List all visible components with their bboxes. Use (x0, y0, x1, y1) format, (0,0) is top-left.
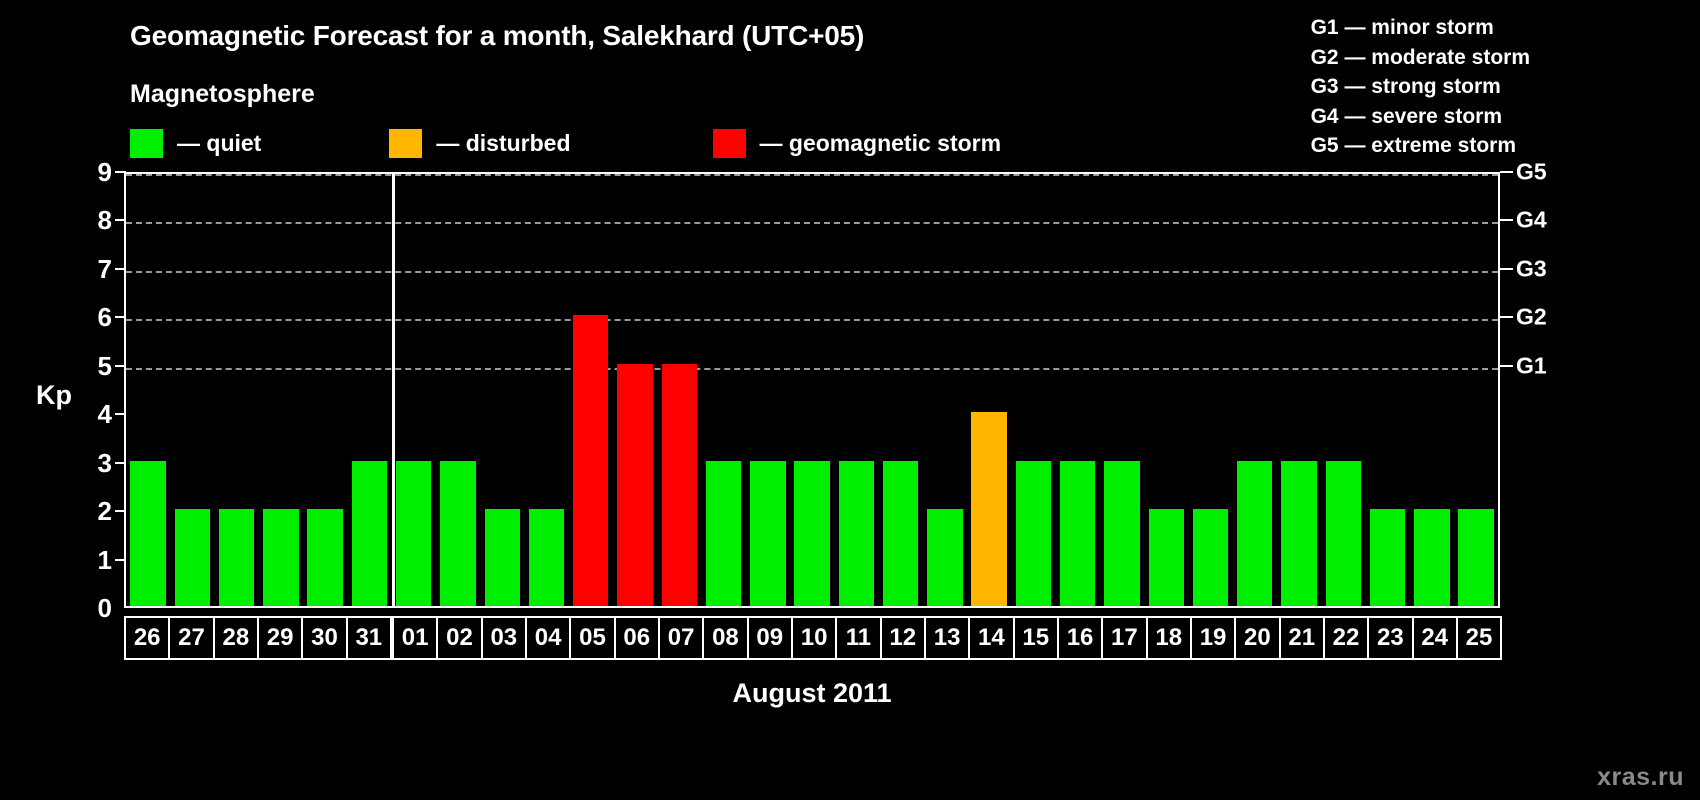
bar-day-21 (1281, 461, 1316, 606)
g-tick-label-G2: G2 (1516, 306, 1547, 329)
bar-day-26 (130, 461, 165, 606)
bar-cell (1410, 174, 1454, 606)
bar-day-11 (839, 461, 874, 606)
x-axis-day-21[interactable]: 21 (1279, 616, 1325, 660)
g-scale-key-line-2: G2 — moderate storm (1311, 43, 1530, 73)
g-scale-key-line-3: G3 — strong storm (1311, 72, 1530, 102)
g-tick-G5 (1500, 171, 1513, 173)
plot-area (124, 172, 1500, 608)
g-tick-label-G4: G4 (1516, 209, 1547, 232)
bar-cell (1454, 174, 1498, 606)
bar-cell (923, 174, 967, 606)
g-tick-label-G1: G1 (1516, 354, 1547, 377)
bar-cell (967, 174, 1011, 606)
bar-day-05 (573, 315, 608, 606)
legend-item-2: — geomagnetic storm (713, 128, 1002, 158)
x-axis-day-25[interactable]: 25 (1456, 616, 1502, 660)
y-tick-label-3: 3 (98, 450, 112, 476)
page-title: Geomagnetic Forecast for a month, Salekh… (130, 20, 864, 52)
x-axis-day-17[interactable]: 17 (1101, 616, 1147, 660)
bar-cell (1365, 174, 1409, 606)
x-axis-day-26[interactable]: 26 (124, 616, 170, 660)
g-tick-G3 (1500, 268, 1513, 270)
bar-day-15 (1016, 461, 1051, 606)
bar-day-20 (1237, 461, 1272, 606)
g-tick-G4 (1500, 219, 1513, 221)
red-square-icon (713, 129, 746, 158)
y-tick-label-9: 9 (98, 159, 112, 185)
x-axis-day-16[interactable]: 16 (1057, 616, 1103, 660)
x-axis-day-20[interactable]: 20 (1234, 616, 1280, 660)
g-axis-ticks (1500, 172, 1514, 608)
bar-cell (1188, 174, 1232, 606)
bar-cell (170, 174, 214, 606)
y-tick-label-8: 8 (98, 207, 112, 233)
bar-cell (303, 174, 347, 606)
x-axis-day-27[interactable]: 27 (168, 616, 214, 660)
bar-day-17 (1104, 461, 1139, 606)
g-tick-label-G3: G3 (1516, 257, 1547, 280)
x-axis-day-19[interactable]: 19 (1190, 616, 1236, 660)
bar-cell (436, 174, 480, 606)
bar-day-08 (706, 461, 741, 606)
bar-day-18 (1149, 509, 1184, 606)
g-tick-label-G5: G5 (1516, 161, 1547, 184)
x-axis-day-06[interactable]: 06 (614, 616, 660, 660)
bar-day-31 (352, 461, 387, 606)
x-axis-day-18[interactable]: 18 (1146, 616, 1192, 660)
x-axis-day-30[interactable]: 30 (301, 616, 347, 660)
bar-day-13 (927, 509, 962, 606)
g-tick-G2 (1500, 316, 1513, 318)
bar-day-14 (971, 412, 1006, 606)
bar-day-12 (883, 461, 918, 606)
bar-cell (126, 174, 170, 606)
x-axis-day-29[interactable]: 29 (257, 616, 303, 660)
bars-layer (126, 174, 1498, 606)
bar-cell (879, 174, 923, 606)
x-axis-title: August 2011 (124, 678, 1500, 709)
bar-cell (259, 174, 303, 606)
green-square-icon (130, 129, 163, 158)
bar-day-01 (396, 461, 431, 606)
bar-day-24 (1414, 509, 1449, 606)
legend-label-0: — quiet (177, 130, 261, 157)
bar-cell (569, 174, 613, 606)
legend: — quiet— disturbed— geomagnetic storm (130, 128, 1001, 158)
bar-day-30 (307, 509, 342, 606)
y-tick-label-0: 0 (98, 595, 112, 621)
bar-day-02 (440, 461, 475, 606)
x-axis-day-15[interactable]: 15 (1013, 616, 1059, 660)
bar-cell (834, 174, 878, 606)
y-tick-label-7: 7 (98, 256, 112, 282)
y-tick-label-5: 5 (98, 353, 112, 379)
bar-cell (1277, 174, 1321, 606)
bar-day-23 (1370, 509, 1405, 606)
y-tick-label-4: 4 (98, 401, 112, 427)
bar-day-04 (529, 509, 564, 606)
x-axis-day-labels: 2627282930310102030405060708091011121314… (124, 616, 1500, 660)
bar-cell (392, 174, 436, 606)
x-axis-day-22[interactable]: 22 (1323, 616, 1369, 660)
y-tick-label-2: 2 (98, 498, 112, 524)
g-scale-key-line-5: G5 — extreme storm (1311, 131, 1530, 161)
x-axis-day-05[interactable]: 05 (569, 616, 615, 660)
x-axis-day-23[interactable]: 23 (1367, 616, 1413, 660)
y-tick-label-6: 6 (98, 304, 112, 330)
bar-cell (657, 174, 701, 606)
bar-cell (1321, 174, 1365, 606)
legend-heading: Magnetosphere (130, 80, 315, 109)
bar-day-06 (617, 364, 652, 606)
bar-cell (1144, 174, 1188, 606)
bar-cell (746, 174, 790, 606)
g-scale-key-line-1: G1 — minor storm (1311, 13, 1530, 43)
x-axis-day-08[interactable]: 08 (702, 616, 748, 660)
bar-cell (790, 174, 834, 606)
legend-item-1: — disturbed (389, 128, 570, 158)
y-tick-label-1: 1 (98, 547, 112, 573)
x-axis-day-09[interactable]: 09 (747, 616, 793, 660)
y-axis-title: Kp (36, 380, 72, 411)
bar-cell (1011, 174, 1055, 606)
x-axis-day-01[interactable]: 01 (392, 616, 438, 660)
g-scale-key: G1 — minor stormG2 — moderate stormG3 — … (1311, 13, 1530, 161)
x-axis-day-10[interactable]: 10 (791, 616, 837, 660)
bar-day-10 (794, 461, 829, 606)
x-axis-day-11[interactable]: 11 (835, 616, 881, 660)
legend-label-2: — geomagnetic storm (760, 130, 1002, 157)
bar-day-16 (1060, 461, 1095, 606)
bar-cell (480, 174, 524, 606)
bar-day-03 (485, 509, 520, 606)
bar-day-29 (263, 509, 298, 606)
x-axis-day-03[interactable]: 03 (481, 616, 527, 660)
g-axis-labels: G1G2G3G4G5 (1516, 172, 1576, 608)
x-axis-day-02[interactable]: 02 (436, 616, 482, 660)
legend-label-1: — disturbed (436, 130, 570, 157)
x-axis-day-24[interactable]: 24 (1412, 616, 1458, 660)
orange-square-icon (389, 129, 422, 158)
bar-day-25 (1458, 509, 1493, 606)
bar-cell (613, 174, 657, 606)
bar-cell (524, 174, 568, 606)
x-axis-day-28[interactable]: 28 (213, 616, 259, 660)
x-axis-day-12[interactable]: 12 (880, 616, 926, 660)
bar-day-09 (750, 461, 785, 606)
g-tick-G1 (1500, 365, 1513, 367)
bar-day-07 (662, 364, 697, 606)
y-axis-labels: 0123456789 (78, 172, 112, 608)
g-scale-key-line-4: G4 — severe storm (1311, 102, 1530, 132)
legend-item-0: — quiet (130, 128, 261, 158)
bar-cell (347, 174, 391, 606)
bar-day-27 (175, 509, 210, 606)
x-axis-day-31[interactable]: 31 (346, 616, 392, 660)
watermark: xras.ru (1597, 763, 1684, 792)
bar-cell (701, 174, 745, 606)
x-axis-day-13[interactable]: 13 (924, 616, 970, 660)
bar-day-28 (219, 509, 254, 606)
x-axis-day-07[interactable]: 07 (658, 616, 704, 660)
bar-day-19 (1193, 509, 1228, 606)
bar-cell (1056, 174, 1100, 606)
x-axis-day-14[interactable]: 14 (968, 616, 1014, 660)
x-axis-day-04[interactable]: 04 (525, 616, 571, 660)
bar-day-22 (1326, 461, 1361, 606)
bar-cell (215, 174, 259, 606)
bar-cell (1233, 174, 1277, 606)
bar-cell (1100, 174, 1144, 606)
